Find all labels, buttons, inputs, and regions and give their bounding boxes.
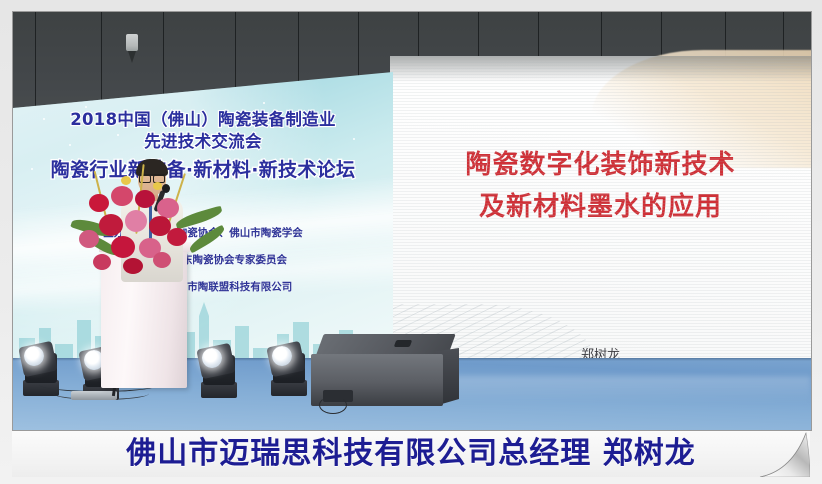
- moving-head-light: [199, 342, 239, 398]
- stage-photograph: 陶瓷数字化装饰新技术 及新材料墨水的应用 郑树龙 2018-06-01: [12, 11, 812, 431]
- slide-title: 陶瓷数字化装饰新技术 及新材料墨水的应用: [390, 144, 811, 228]
- stage-monitor-speaker: [311, 334, 459, 412]
- wall-sprinkler-icon: [126, 34, 138, 51]
- banner-organizer-line3: 协办单位：佛山市陶联盟科技有限公司: [13, 279, 393, 294]
- slide-title-line2: 及新材料墨水的应用: [390, 186, 811, 228]
- caption-bar: 佛山市迈瑞思科技有限公司总经理 郑树龙: [12, 431, 810, 477]
- banner-title-line2: 先进技术交流会: [13, 128, 393, 152]
- screenshot-root: 陶瓷数字化装饰新技术 及新材料墨水的应用 郑树龙 2018-06-01: [0, 0, 822, 484]
- banner-title-line1: 2018中国（佛山）陶瓷装备制造业: [13, 106, 393, 130]
- floor-cable-ramp: [71, 391, 117, 400]
- flower-arrangement: [65, 164, 235, 280]
- slide-title-line1: 陶瓷数字化装饰新技术: [390, 144, 811, 186]
- moving-head-light: [269, 340, 309, 396]
- caption-text: 佛山市迈瑞思科技有限公司总经理 郑树龙: [126, 432, 695, 476]
- projection-screen: 陶瓷数字化装饰新技术 及新材料墨水的应用 郑树龙 2018-06-01: [390, 56, 811, 372]
